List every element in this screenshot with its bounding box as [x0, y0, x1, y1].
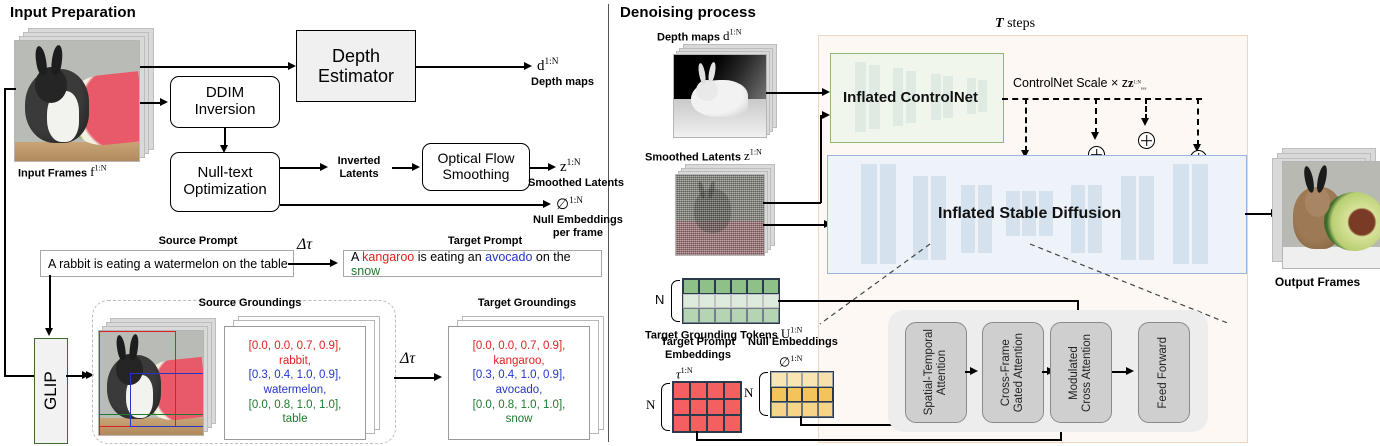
grounding-coords: [0.3, 0.4, 1.0, 0.9], [473, 368, 566, 383]
token-cell [747, 294, 763, 309]
controlnet-tap-3 [1145, 98, 1147, 120]
arrowhead [1091, 132, 1099, 140]
token-cell [787, 372, 803, 387]
prompt-embeddings-brace [661, 383, 670, 431]
token-cell [771, 402, 787, 417]
smoothed-latents-input-caption: Smoothed Latents z1:N [645, 148, 762, 164]
inverted-latents-label: Inverted Latents [326, 155, 392, 180]
token-cell [787, 387, 803, 402]
controlnet-tap-2 [1095, 98, 1097, 134]
token-cell [787, 402, 803, 417]
target-prompt-label: Target Prompt [400, 235, 570, 248]
arrowhead [543, 200, 551, 208]
prompt-route-h [696, 439, 1062, 441]
controlnet-scale-label: ControlNet Scale × zz1:Nres [1013, 76, 1146, 92]
token-cell [707, 382, 724, 399]
inflated-controlnet-label: Inflated ControlNet [843, 89, 978, 106]
target-prompt-token: avocado [485, 250, 532, 264]
token-cell [683, 308, 699, 323]
arrow-null-embeddings [280, 204, 545, 206]
token-cell [818, 372, 834, 387]
attention-block-label: Feed Forward [1157, 337, 1170, 409]
target-prompt-token: snow [351, 264, 380, 278]
token-cell [673, 382, 690, 399]
arrow-prompt-to-glip [49, 275, 51, 330]
target-prompt-token: is eating an [414, 250, 485, 264]
null-embeddings-grid [770, 371, 834, 418]
token-cell [715, 308, 731, 323]
attention-block-label: Modulated Cross Attention [1068, 334, 1094, 412]
null-text-optimization-label: Null-text Optimization [183, 165, 266, 199]
delta-tau-groundings: Δτ [400, 350, 415, 368]
token-cell [690, 415, 707, 432]
target-prompt-token: kangaroo [362, 250, 414, 264]
token-cell [683, 279, 699, 294]
source-grounding-image-stack [98, 318, 218, 436]
feedback-rail-vertical [4, 88, 6, 376]
attn-link-3 [1112, 371, 1128, 373]
target-prompt-token: A [351, 250, 362, 264]
arrow-depth-to-controlnet [766, 92, 824, 94]
arrow-flow-out [530, 167, 550, 169]
arrow-frames-to-ddim [140, 102, 162, 104]
token-cell [699, 308, 715, 323]
smoothed-latents-caption: Smoothed Latents [528, 177, 624, 190]
inflated-stable-diffusion-label: Inflated Stable Diffusion [938, 205, 1121, 223]
target-prompt-token: on the [532, 250, 570, 264]
arrowhead [1141, 118, 1149, 126]
target-prompt-text: A kangaroo is eating an avocado on the s… [351, 250, 601, 278]
target-grounding-tokens-grid [682, 278, 780, 324]
token-cell [802, 387, 818, 402]
null-embeddings-right-symbol: ∅1:N [779, 354, 802, 370]
output-frames-caption: Output Frames [1255, 276, 1380, 290]
arrow-glip-out [66, 375, 88, 377]
glip-block: GLIP [34, 338, 68, 444]
input-frames-label: Input Frames [18, 167, 87, 179]
ddim-inversion-label: DDIM Inversion [195, 85, 256, 119]
depth-maps-caption: Depth maps [531, 76, 594, 89]
optical-flow-smoothing-label: Optical Flow Smoothing [437, 151, 514, 182]
arrowhead [288, 62, 296, 70]
arrow-frames-to-depth [140, 66, 290, 68]
attention-block-modulated-cross: Modulated Cross Attention [1050, 322, 1112, 423]
delta-tau-prompts: Δτ [297, 236, 312, 254]
source-prompt-text: A rabbit is eating a watermelon on the t… [48, 257, 288, 271]
token-cell [690, 382, 707, 399]
arrow-inverted-to-flow [392, 167, 414, 169]
grounding-name: snow [506, 412, 533, 427]
arrowhead [524, 62, 532, 70]
attention-block-spatial-temporal: Spatial-Temporal Attention [905, 322, 967, 423]
depth-estimator-block: Depth Estimator [296, 30, 416, 102]
ddim-inversion-block: DDIM Inversion [170, 76, 280, 128]
target-groundings-label: Target Groundings [452, 297, 602, 310]
token-cell [673, 415, 690, 432]
token-cell [724, 399, 741, 416]
grounding-name: table [283, 412, 308, 427]
token-cell [731, 308, 747, 323]
token-cell [771, 372, 787, 387]
glip-label: GLIP [35, 339, 67, 443]
target-prompt-embeddings-symbol: τ1:N [676, 366, 693, 382]
attention-block-cross-frame-gated: Cross-Frame Gated Attention [982, 322, 1044, 423]
null-embeddings-brace [759, 372, 768, 416]
token-cell [763, 294, 779, 309]
null-embeddings-symbol: ∅1:N [556, 195, 583, 214]
source-groundings-text-stack: [0.0, 0.0, 0.7, 0.9],rabbit,[0.3, 0.4, 1… [224, 316, 384, 442]
prompt-embeddings-n: N [646, 397, 655, 413]
token-cell [715, 294, 731, 309]
grounding-name: avocado, [496, 383, 543, 398]
token-cell [707, 399, 724, 416]
token-cell [707, 415, 724, 432]
attn-link-1 [965, 371, 973, 373]
output-frames-stack [1262, 148, 1380, 273]
attn-link-2 [1042, 371, 1050, 373]
arrowhead [822, 88, 830, 96]
attention-block-label: Spatial-Temporal Attention [923, 329, 949, 415]
arrowhead [548, 163, 556, 171]
token-cell [724, 382, 741, 399]
source-prompt-label: Source Prompt [118, 235, 278, 248]
token-cell [715, 279, 731, 294]
input-frames-caption: Input Frames f1:N [18, 164, 107, 180]
smoothed-latents-stack [675, 164, 783, 256]
target-prompt-embeddings-grid [672, 381, 742, 433]
target-groundings-text-stack: [0.0, 0.0, 0.7, 0.9],kangaroo,[0.3, 0.4,… [448, 316, 613, 442]
arrowhead [45, 328, 53, 336]
controlnet-tap-4 [1197, 98, 1199, 146]
grounding-coords: [0.0, 0.0, 0.7, 0.9], [249, 339, 342, 354]
grounding-coords: [0.0, 0.8, 1.0, 1.0], [249, 398, 342, 413]
depth-maps-input-caption: Depth maps d1:N [657, 28, 742, 44]
source-groundings-label: Source Groundings [170, 297, 330, 310]
token-cell [683, 294, 699, 309]
depth-estimator-label: Depth Estimator [318, 46, 394, 86]
attention-block-feed-forward: Feed Forward [1138, 322, 1190, 423]
target-prompt-box[interactable]: A kangaroo is eating an avocado on the s… [343, 250, 602, 277]
bbox-table [99, 414, 204, 436]
attention-block-label: Cross-Frame Gated Attention [1000, 333, 1026, 412]
left-panel-title: Input Preparation [10, 4, 136, 21]
null-embeddings-right-caption: Null Embeddings [748, 336, 838, 349]
token-cell [731, 294, 747, 309]
token-cell [818, 387, 834, 402]
token-cell [699, 294, 715, 309]
token-cell [690, 399, 707, 416]
grounding-coords: [0.0, 0.0, 0.7, 0.9], [473, 339, 566, 354]
target-prompt-embeddings-caption: Target Prompt Embeddings [638, 336, 758, 361]
grounding-name: kangaroo, [493, 354, 544, 369]
depth-output-symbol: d1:N [537, 57, 558, 75]
token-cell [771, 387, 787, 402]
token-cell [731, 279, 747, 294]
grounding-name: watermelon, [264, 383, 327, 398]
token-cell [747, 308, 763, 323]
source-prompt-box[interactable]: A rabbit is eating a watermelon on the t… [40, 250, 294, 277]
arrow-source-to-target-groundings [394, 377, 436, 379]
grounding-tokens-n: N [655, 292, 664, 307]
input-frames-stack [14, 28, 154, 160]
token-cell [763, 308, 779, 323]
feedback-rail-top [4, 88, 16, 90]
right-panel-title: Denoising process [620, 4, 756, 21]
null-text-optimization-block: Null-text Optimization [170, 152, 280, 212]
token-cell [763, 279, 779, 294]
controlnet-scale-bus [1002, 98, 1202, 100]
null-embeddings-n: N [744, 385, 753, 401]
t-steps-label: T steps [995, 14, 1035, 32]
arrow-latents-elbow-v [820, 115, 822, 203]
arrowhead [822, 111, 830, 119]
arrow-latents-to-unet [763, 224, 825, 226]
arrowhead [434, 373, 442, 381]
grounding-coords: [0.0, 0.8, 1.0, 1.0], [473, 398, 566, 413]
arrow-source-to-target-prompt [288, 263, 332, 265]
arrowhead [160, 98, 168, 106]
controlnet-tap-1 [1025, 98, 1027, 152]
arrow-latents-elbow-h [763, 202, 821, 204]
depth-maps-stack [673, 44, 781, 138]
token-cell [747, 279, 763, 294]
token-cell [673, 399, 690, 416]
arrowhead [412, 163, 420, 171]
grounding-name: rabbit, [279, 354, 311, 369]
input-frames-sup: 1:N [94, 164, 106, 173]
arrow-depth-out [416, 66, 526, 68]
arrow-to-inverted-latents [280, 167, 322, 169]
grounding-tokens-brace [671, 280, 680, 322]
token-cell [724, 415, 741, 432]
add-operator-3 [1138, 132, 1155, 149]
token-cell [802, 372, 818, 387]
figure-root: Input Preparation Input Frames f1:N Dept… [0, 0, 1380, 446]
arrowhead [330, 259, 338, 267]
arrow-ddim-to-null [224, 128, 226, 146]
token-cell [802, 402, 818, 417]
grounding-coords: [0.3, 0.4, 1.0, 0.9], [249, 368, 342, 383]
token-cell [699, 279, 715, 294]
smoothed-latents-symbol: z1:N [560, 158, 581, 176]
optical-flow-smoothing-block: Optical Flow Smoothing [422, 143, 530, 191]
token-cell [818, 402, 834, 417]
